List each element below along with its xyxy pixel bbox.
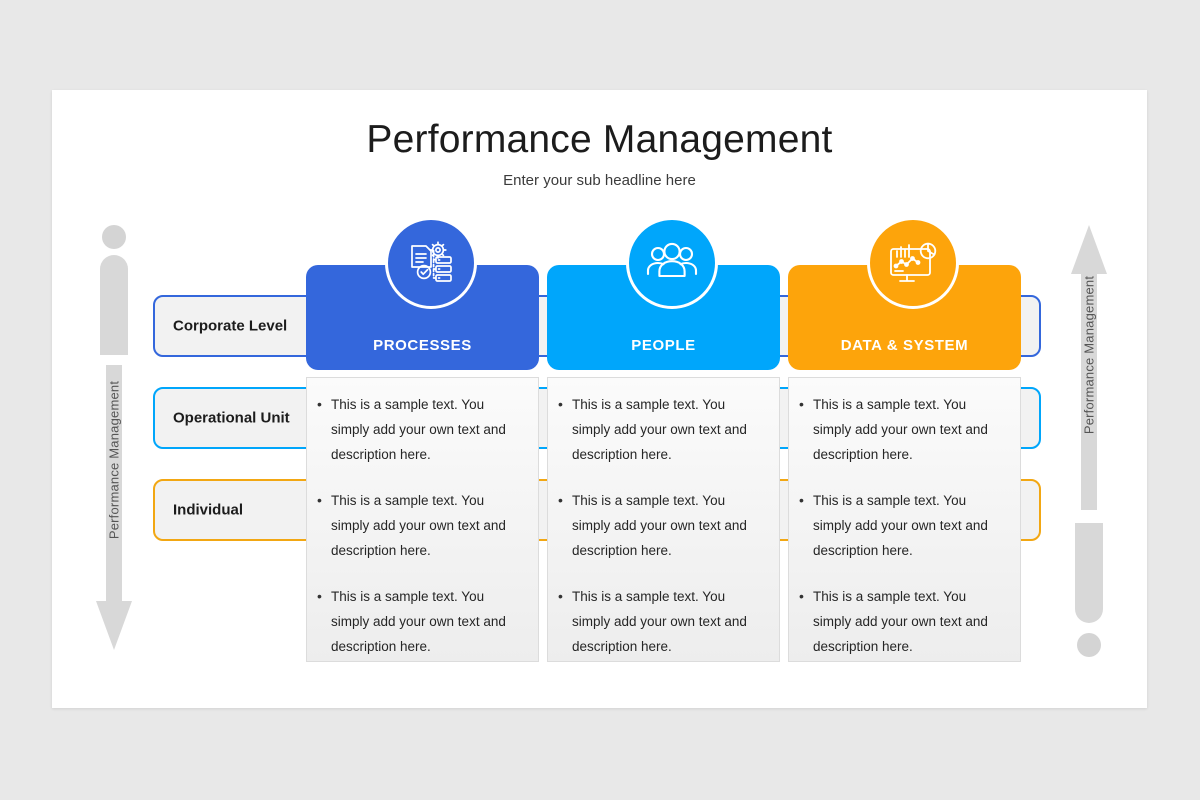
list-item: • This is a sample text. You simply add … xyxy=(558,488,767,563)
list-item: • This is a sample text. You simply add … xyxy=(317,392,526,467)
bullet-icon: • xyxy=(317,488,331,513)
bullet-text: This is a sample text. You simply add yo… xyxy=(331,488,526,563)
bullet-icon: • xyxy=(317,392,331,417)
rail-stub-shape xyxy=(1075,523,1103,623)
rail-dot-icon xyxy=(1077,633,1101,657)
left-rail-label: Performance Management xyxy=(107,381,122,539)
page-subtitle: Enter your sub headline here xyxy=(52,172,1147,189)
list-item: • This is a sample text. You simply add … xyxy=(317,488,526,563)
right-arrow-rail: Performance Management xyxy=(1071,225,1107,665)
column-header-label: PEOPLE xyxy=(547,337,780,354)
row-label: Individual xyxy=(173,502,243,519)
bullet-icon: • xyxy=(558,392,572,417)
bullet-text: This is a sample text. You simply add yo… xyxy=(813,488,1008,563)
row-label: Corporate Level xyxy=(173,318,287,335)
bullet-text: This is a sample text. You simply add yo… xyxy=(331,584,526,659)
list-item: • This is a sample text. You simply add … xyxy=(799,488,1008,563)
left-arrow-rail: Performance Management xyxy=(96,225,132,665)
column-panel-data-system: • This is a sample text. You simply add … xyxy=(788,377,1021,662)
bullet-text: This is a sample text. You simply add yo… xyxy=(572,584,767,659)
list-item: • This is a sample text. You simply add … xyxy=(799,392,1008,467)
column-panel-processes: • This is a sample text. You simply add … xyxy=(306,377,539,662)
bullet-text: This is a sample text. You simply add yo… xyxy=(572,488,767,563)
right-rail-label: Performance Management xyxy=(1082,276,1097,434)
bullet-icon: • xyxy=(799,584,813,609)
slide-stage: Performance Management Enter your sub he… xyxy=(0,0,1200,800)
people-group-icon xyxy=(626,217,718,309)
column-panel-people: • This is a sample text. You simply add … xyxy=(547,377,780,662)
rail-dot-icon xyxy=(102,225,126,249)
row-label: Operational Unit xyxy=(173,410,290,427)
list-item: • This is a sample text. You simply add … xyxy=(799,584,1008,659)
list-item: • This is a sample text. You simply add … xyxy=(558,584,767,659)
bullet-text: This is a sample text. You simply add yo… xyxy=(813,584,1008,659)
bullet-icon: • xyxy=(317,584,331,609)
bullet-icon: • xyxy=(558,488,572,513)
bullet-text: This is a sample text. You simply add yo… xyxy=(331,392,526,467)
document-gear-checklist-icon xyxy=(385,217,477,309)
column-header-label: DATA & SYSTEM xyxy=(788,337,1021,354)
list-item: • This is a sample text. You simply add … xyxy=(558,392,767,467)
list-item: • This is a sample text. You simply add … xyxy=(317,584,526,659)
bullet-icon: • xyxy=(799,488,813,513)
bullet-icon: • xyxy=(558,584,572,609)
monitor-analytics-icon xyxy=(867,217,959,309)
page-title: Performance Management xyxy=(52,118,1147,162)
bullet-icon: • xyxy=(799,392,813,417)
bullet-text: This is a sample text. You simply add yo… xyxy=(813,392,1008,467)
slide-canvas: Performance Management Enter your sub he… xyxy=(52,90,1147,708)
rail-stub-shape xyxy=(100,255,128,355)
column-header-label: PROCESSES xyxy=(306,337,539,354)
bullet-text: This is a sample text. You simply add yo… xyxy=(572,392,767,467)
